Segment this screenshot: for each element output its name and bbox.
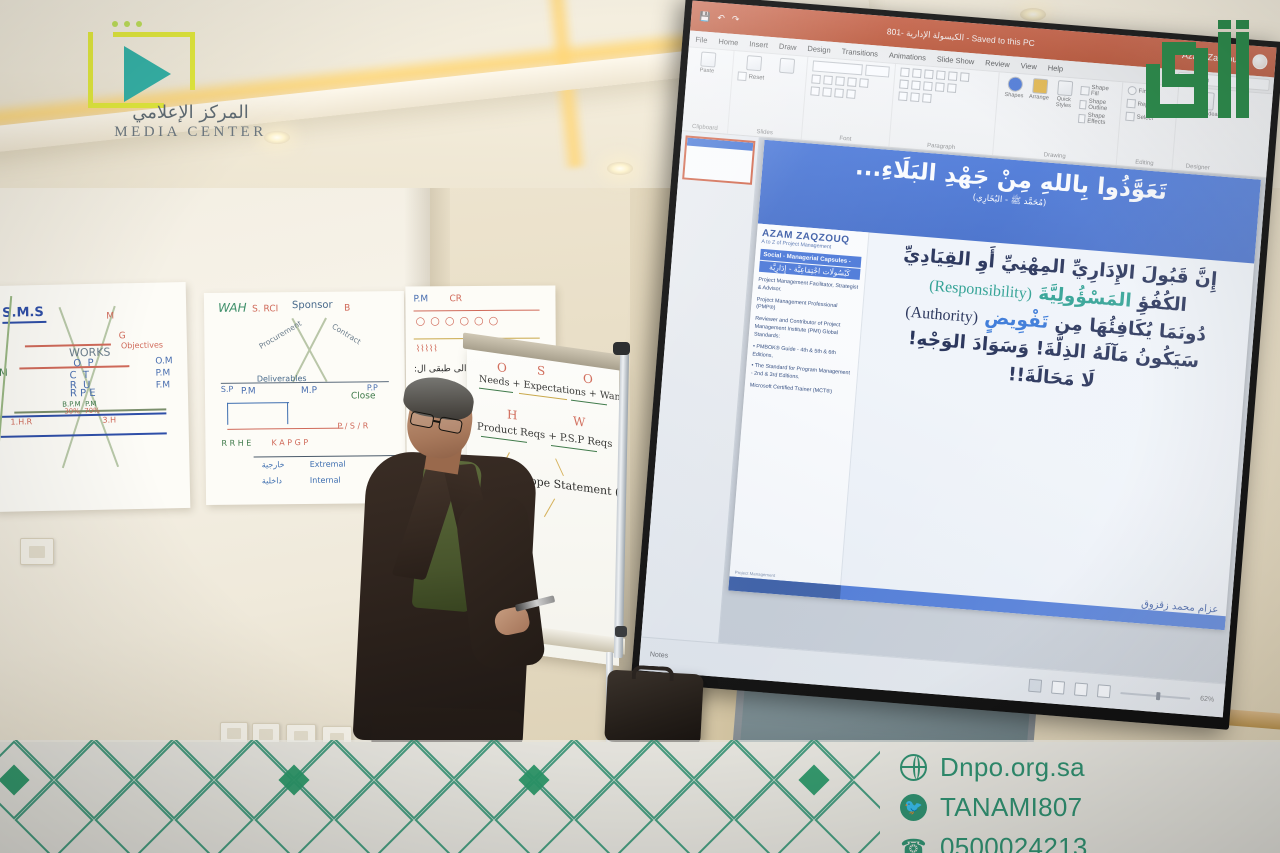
shapes-label: Shapes	[1004, 92, 1023, 100]
text-direction-icon[interactable]	[898, 91, 908, 101]
font-size-combo[interactable]	[865, 65, 890, 78]
slide-line-2-a: الكُفُؤِ	[1137, 291, 1187, 316]
align-text-icon[interactable]	[910, 92, 920, 102]
redo-icon[interactable]: ↷	[731, 13, 739, 25]
logo-english-text: MEDIA CENTER	[78, 124, 303, 141]
logo-frame-right	[190, 32, 195, 90]
font-name-combo[interactable]	[812, 60, 863, 75]
downlight-icon	[1020, 8, 1046, 21]
profile-bullet: Reviewer and Contributor of Project Mana…	[754, 316, 857, 348]
twitter-label[interactable]: TANAMI807	[940, 792, 1082, 823]
slide-body-text: إِنَّ قَبُولَ الإِدَارِيِّ المِهْنِيِّ أ…	[841, 232, 1254, 614]
shape-fill-label: Shape Fill	[1091, 85, 1117, 99]
char-spacing-icon[interactable]	[822, 87, 832, 97]
slide-line-2-en: (Responsibility)	[929, 277, 1033, 302]
quick-styles-icon	[1057, 80, 1073, 96]
text-shadow-icon[interactable]	[847, 77, 857, 87]
phone-icon: ☎	[900, 834, 927, 853]
ltr-icon[interactable]	[960, 72, 970, 82]
change-case-icon[interactable]	[834, 88, 844, 98]
tab-animations[interactable]: Animations	[889, 50, 927, 62]
zoom-slider[interactable]	[1120, 692, 1190, 700]
diamond-pattern	[0, 740, 880, 853]
downlight-icon	[607, 162, 633, 175]
search-icon	[1127, 86, 1137, 96]
ribbon-group-slides[interactable]: Reset Slides	[728, 51, 808, 140]
tab-view[interactable]: View	[1020, 61, 1037, 71]
zoom-level[interactable]: 62%	[1200, 696, 1215, 704]
shapes-icon	[1007, 76, 1023, 92]
slide-line-3-highlight: تَفْوِيضٍ	[984, 307, 1050, 333]
save-icon[interactable]: 💾	[699, 11, 711, 23]
wall-socket	[20, 538, 54, 565]
contact-phone[interactable]: ☎ 0500024213	[900, 832, 1270, 853]
bold-icon[interactable]	[811, 74, 821, 84]
phone-label[interactable]: 0500024213	[940, 832, 1088, 853]
zoom-slider-knob[interactable]	[1156, 691, 1161, 699]
poster-sms-pyramid: S.M.S M G Objectives WORKS O P C T R U R…	[0, 282, 190, 512]
logo-arabic-text: المركز الإعلامي	[78, 102, 303, 123]
contact-block: Dnpo.org.sa 🐦 TANAMI807 ☎ 0500024213	[900, 752, 1270, 853]
numbering-icon[interactable]	[912, 68, 922, 78]
slide-sorter-view-button[interactable]	[1051, 681, 1065, 695]
avatar[interactable]	[1252, 53, 1268, 69]
slideshow-view-button[interactable]	[1097, 684, 1111, 698]
tab-draw[interactable]: Draw	[779, 41, 797, 51]
flipchart-knob-bottom[interactable]	[615, 626, 627, 637]
paste-button[interactable]: Paste	[692, 51, 724, 75]
bullets-icon[interactable]	[900, 67, 910, 77]
tab-design[interactable]: Design	[807, 43, 831, 54]
ribbon-group-clipboard[interactable]: Paste Clipboard	[682, 47, 735, 133]
logo-frame-top	[113, 32, 195, 37]
bag-handle	[632, 665, 675, 681]
layout-button[interactable]	[771, 57, 802, 74]
undo-icon[interactable]: ↶	[717, 12, 725, 24]
ribbon-group-drawing[interactable]: Shapes Arrange Quick Styles	[993, 72, 1123, 165]
tab-transitions[interactable]: Transitions	[841, 46, 878, 58]
reading-view-button[interactable]	[1074, 682, 1088, 696]
laptop-bag	[604, 670, 704, 747]
italic-icon[interactable]	[823, 75, 833, 85]
play-button-in-frame-icon	[88, 20, 194, 106]
arrange-button[interactable]: Arrange	[1026, 78, 1051, 122]
slide-line-3-en: (Authority)	[905, 303, 979, 326]
kufi-calligraphy-icon	[1140, 18, 1254, 122]
tab-help[interactable]: Help	[1047, 63, 1063, 73]
logo-frame-left	[88, 32, 93, 108]
tab-file[interactable]: File	[695, 34, 708, 44]
flipchart-mark-o2: O	[583, 371, 593, 386]
contact-twitter[interactable]: 🐦 TANAMI807	[900, 792, 1270, 823]
media-center-logo: المركز الإعلامي MEDIA CENTER	[78, 14, 303, 139]
align-left-icon[interactable]	[899, 79, 909, 89]
new-slide-icon	[746, 55, 762, 71]
quick-access-toolbar[interactable]: 💾 ↶ ↷	[699, 11, 740, 25]
layout-icon	[778, 58, 794, 74]
decrease-indent-icon[interactable]	[924, 69, 934, 79]
ribbon-group-paragraph[interactable]: Paragraph	[889, 64, 999, 155]
line-spacing-icon[interactable]	[948, 71, 958, 81]
tab-slide-show[interactable]: Slide Show	[937, 54, 975, 66]
shapes-button[interactable]: Shapes	[1001, 76, 1026, 120]
logo-dots-icon	[112, 21, 142, 27]
contact-website[interactable]: Dnpo.org.sa	[900, 752, 1270, 783]
normal-view-button[interactable]	[1028, 679, 1042, 693]
tab-review[interactable]: Review	[985, 58, 1010, 69]
justify-icon[interactable]	[935, 82, 945, 92]
flipchart-mark-w: W	[573, 414, 585, 430]
slide-line-2-highlight: المَسْؤُولِيَّةَ	[1038, 283, 1133, 311]
tab-home[interactable]: Home	[718, 36, 739, 47]
thumbnail-banner	[686, 138, 752, 151]
arrange-icon	[1032, 78, 1048, 94]
ribbon-group-font[interactable]: Font	[802, 57, 896, 147]
select-cursor-icon	[1125, 112, 1135, 122]
tab-insert[interactable]: Insert	[749, 39, 768, 49]
font-color-icon[interactable]	[810, 86, 820, 96]
columns-icon[interactable]	[947, 83, 957, 93]
replace-icon	[1126, 99, 1136, 109]
paste-icon	[700, 51, 716, 67]
screenshot-root: S.M.S M G Objectives WORKS O P C T R U R…	[0, 0, 1280, 853]
reset-icon	[737, 71, 747, 81]
paste-label: Paste	[700, 67, 715, 74]
flipchart-mark-s: S	[537, 363, 545, 378]
shape-outline-label: Shape Outline	[1088, 99, 1116, 113]
align-right-icon[interactable]	[923, 81, 933, 91]
current-slide[interactable]: تَعَوَّذُوا بِاللهِ مِنْ جَهْدِ البَلَاء…	[728, 140, 1261, 630]
reset-label: Reset	[748, 74, 764, 81]
slide-editing-area[interactable]: 9 تَعَوَّذُوا بِاللهِ مِنْ جَهْدِ البَلَ…	[641, 131, 1266, 683]
increase-indent-icon[interactable]	[936, 70, 946, 80]
website-label[interactable]: Dnpo.org.sa	[940, 752, 1085, 783]
flipchart-mark-o1: O	[497, 360, 507, 375]
globe-icon	[900, 754, 927, 781]
strikethrough-icon[interactable]	[859, 78, 869, 88]
play-icon	[124, 46, 171, 102]
arrange-label: Arrange	[1029, 94, 1049, 102]
shape-fill-icon	[1080, 85, 1089, 95]
underline-icon[interactable]	[835, 76, 845, 86]
shape-outline-button[interactable]: Shape Outline	[1079, 98, 1116, 113]
shape-fill-button[interactable]: Shape Fill	[1080, 84, 1117, 99]
new-slide-button[interactable]	[738, 54, 769, 71]
shape-effects-icon	[1078, 113, 1086, 123]
quick-styles-label: Quick Styles	[1052, 96, 1075, 110]
quick-styles-button[interactable]: Quick Styles	[1051, 80, 1076, 124]
smartart-icon[interactable]	[922, 93, 932, 103]
clear-format-icon[interactable]	[846, 89, 856, 99]
shape-effects-label: Shape Effects	[1087, 113, 1115, 127]
slide-thumbnail[interactable]: 9	[682, 135, 755, 184]
shape-effects-button[interactable]: Shape Effects	[1078, 112, 1115, 127]
twitter-icon: 🐦	[900, 794, 927, 821]
align-center-icon[interactable]	[911, 80, 921, 90]
slide-canvas[interactable]: تَعَوَّذُوا بِاللهِ مِنْ جَهْدِ البَلَاء…	[719, 137, 1266, 683]
shape-outline-icon	[1079, 99, 1087, 109]
flipchart-knob-top[interactable]	[613, 342, 630, 355]
